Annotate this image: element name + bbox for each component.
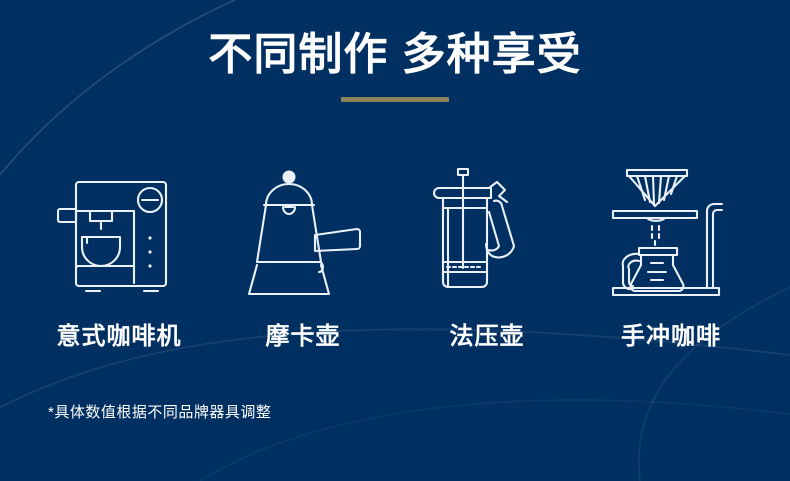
brew-method-label: 摩卡壶	[266, 316, 341, 351]
brew-method-label: 法压壶	[450, 316, 525, 351]
brew-method-item-pour-over: 手冲咖啡	[586, 158, 756, 351]
french-press-icon	[427, 158, 547, 298]
moka-pot-icon	[243, 158, 363, 298]
brew-method-item-french-press: 法压壶	[402, 158, 572, 351]
poster-header: 不同制作 多种享受	[0, 0, 790, 102]
brew-method-item-moka: 摩卡壶	[218, 158, 388, 351]
coffee-brewing-methods-poster: 不同制作 多种享受	[0, 0, 790, 481]
brew-method-label: 意式咖啡机	[57, 316, 182, 351]
brew-method-item-espresso: 意式咖啡机	[34, 158, 204, 351]
page-title: 不同制作 多种享受	[0, 0, 790, 81]
footnote: *具体数值根据不同品牌器具调整	[48, 401, 271, 422]
pour-over-icon	[607, 158, 735, 298]
title-divider-wrap	[0, 97, 790, 102]
title-divider	[341, 97, 449, 102]
brew-method-list: 意式咖啡机	[0, 158, 790, 351]
espresso-machine-icon	[57, 158, 181, 298]
brew-method-label: 手冲咖啡	[621, 316, 721, 351]
